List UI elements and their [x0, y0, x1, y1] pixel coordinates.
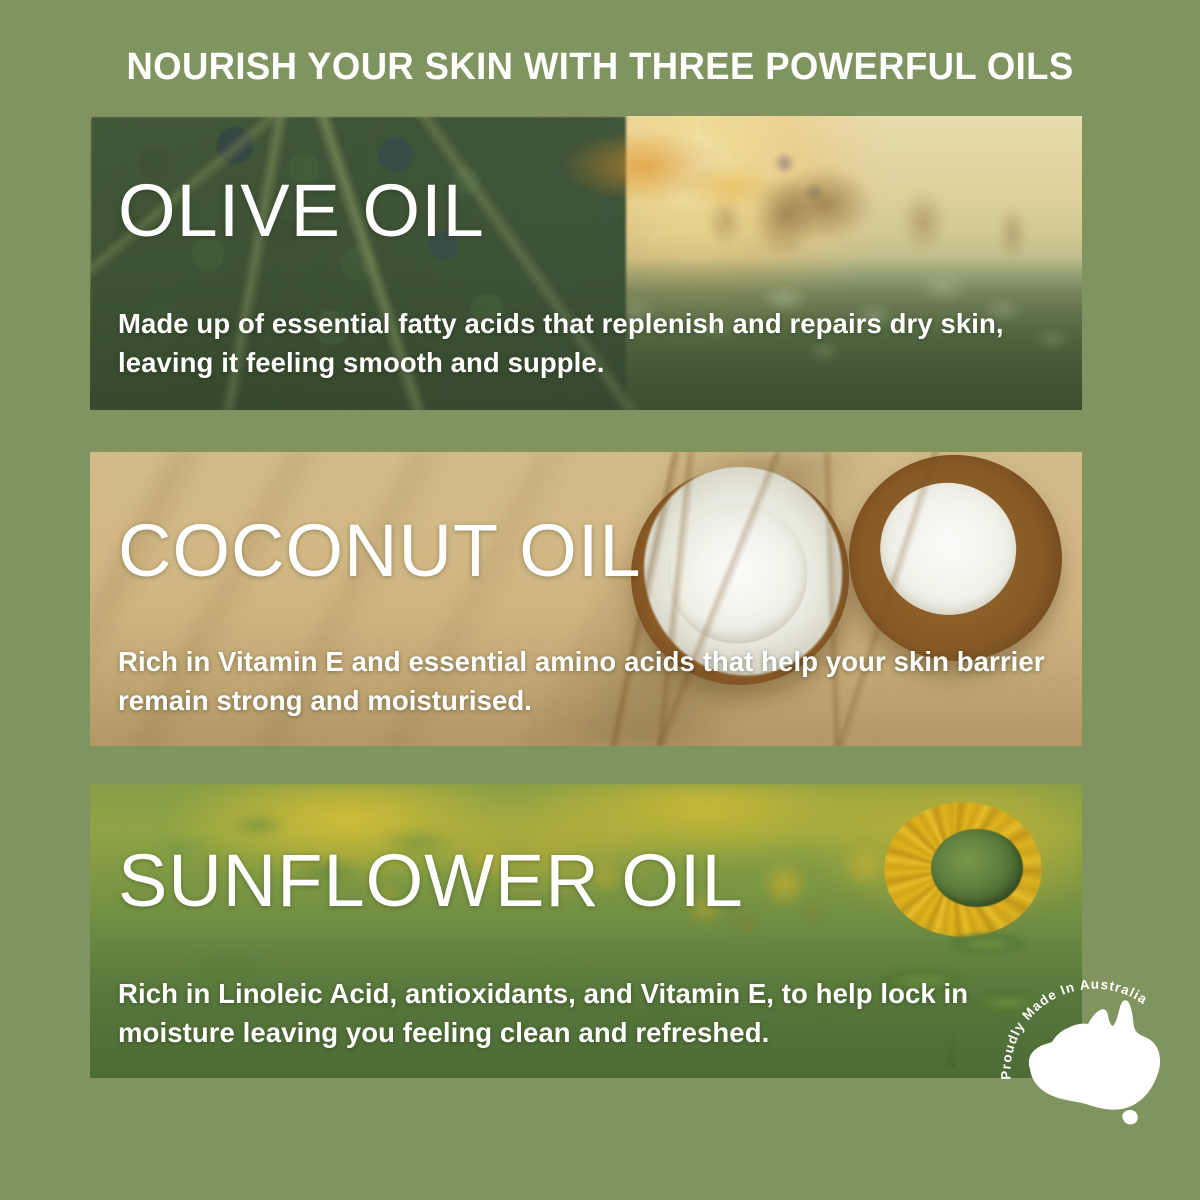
australia-map-icon: [1029, 1000, 1160, 1124]
proudly-made-in-australia-badge: Proudly Made In Australia: [1000, 965, 1192, 1165]
coconut-sand-image: [90, 452, 1082, 746]
oil-card-coconut: COCONUT OIL Rich in Vitamin E and essent…: [90, 452, 1082, 746]
oil-card-sunflower: SUNFLOWER OIL Rich in Linoleic Acid, ant…: [90, 784, 1082, 1078]
sunflower-field-image: [90, 784, 1082, 1078]
oil-card-olive: OLIVE OIL Made up of essential fatty aci…: [90, 116, 1082, 410]
page-title: NOURISH YOUR SKIN WITH THREE POWERFUL OI…: [24, 48, 1176, 88]
poster: NOURISH YOUR SKIN WITH THREE POWERFUL OI…: [0, 0, 1200, 1200]
olive-grove-image: [90, 116, 1082, 410]
